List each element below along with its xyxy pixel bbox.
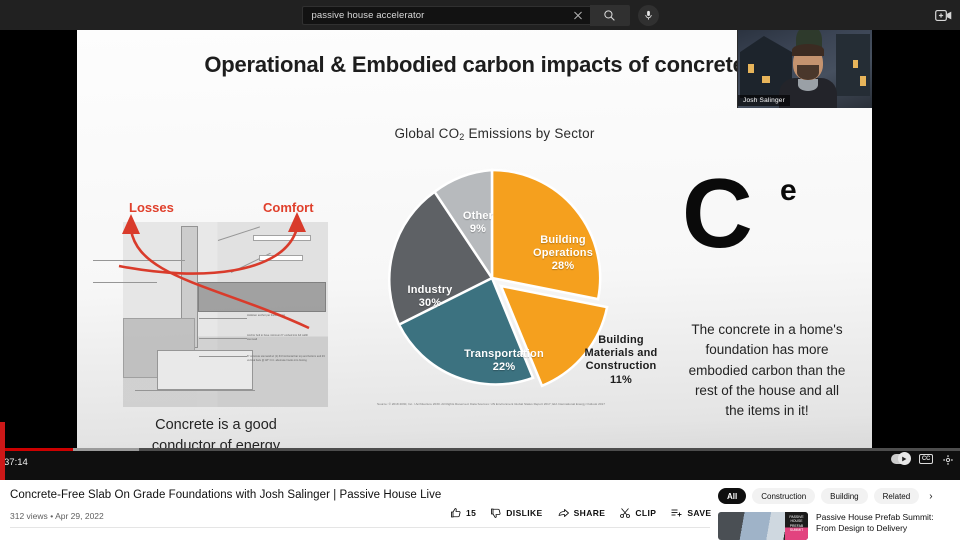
like-count: 15 [466, 508, 476, 518]
voice-search-button[interactable] [638, 5, 659, 26]
page-title: Concrete-Free Slab On Grade Foundations … [10, 489, 441, 501]
share-label: SHARE [574, 508, 606, 518]
filter-chips: All Construction Building Related › [718, 488, 933, 504]
dislike-button[interactable]: DISLIKE [490, 507, 542, 519]
chip-building[interactable]: Building [821, 488, 867, 504]
carbon-symbol-superscript: e [780, 174, 797, 208]
chart-source-note: Source: © 2018 2030, Inc. / Architecture… [366, 402, 616, 407]
player-controls[interactable]: 37:14 CC [0, 448, 960, 480]
right-caption-line4: rest of the house and all [695, 383, 839, 398]
play-icon [898, 452, 911, 465]
right-caption-line2: foundation has more [705, 342, 828, 357]
pie-label-transportation: Transportation22% [454, 348, 554, 374]
create-video-icon[interactable] [935, 8, 952, 22]
like-button[interactable]: 15 [450, 507, 476, 519]
gear-icon[interactable] [942, 453, 954, 465]
presentation-slide: Operational & Embodied carbon impacts of… [77, 30, 872, 470]
video-meta: 312 views • Apr 29, 2022 [10, 511, 104, 521]
search-button[interactable] [590, 5, 630, 26]
right-caption-line1: The concrete in a home's [691, 322, 842, 337]
save-label: SAVE [687, 508, 711, 518]
progress-played [0, 448, 73, 451]
divider [10, 527, 710, 528]
search-icon [603, 9, 616, 22]
progress-bar[interactable] [0, 448, 960, 451]
video-thumbnail[interactable]: PASSIVE HOUSE PREFAB SUMMIT [718, 512, 808, 540]
timestamp: 37:14 [4, 457, 28, 468]
pie-title-subscript: 2 [459, 132, 464, 142]
video-actions: 15 DISLIKE SHARE CLIP [450, 507, 740, 519]
save-button[interactable]: SAVE [670, 507, 711, 519]
pie-chart: Global CO2 Emissions by Sector [342, 126, 647, 436]
chevron-right-icon[interactable]: › [925, 491, 932, 502]
share-arrow-icon [557, 507, 570, 519]
search-box[interactable] [302, 6, 590, 25]
chip-construction[interactable]: Construction [752, 488, 815, 504]
clip-button[interactable]: CLIP [619, 507, 656, 519]
left-caption-line1: Concrete is a good [155, 417, 277, 433]
energy-flow-arrows [109, 208, 329, 368]
chip-related[interactable]: Related [874, 488, 920, 504]
player-right-controls: CC [891, 453, 954, 465]
pie-title-suffix: Emissions by Sector [465, 126, 595, 141]
thumbnail-badge: PASSIVE HOUSE PREFAB SUMMIT [785, 512, 808, 540]
scissors-icon [619, 507, 631, 519]
meta-separator: • [50, 511, 53, 521]
save-list-icon [670, 507, 683, 519]
clip-label: CLIP [635, 508, 656, 518]
right-caption-line5: the items in it! [725, 403, 808, 418]
video-player[interactable]: Operational & Embodied carbon impacts of… [0, 30, 960, 480]
dislike-label: DISLIKE [506, 508, 542, 518]
carbon-symbol: C [682, 170, 753, 256]
player-left-accent [0, 422, 5, 480]
youtube-watch-page: Operational & Embodied carbon impacts of… [0, 0, 960, 540]
pie-label-other: Other9% [450, 210, 506, 236]
close-icon[interactable] [572, 9, 584, 21]
recommendation-title-line2: From Design to Delivery [816, 523, 907, 533]
list-item[interactable]: PASSIVE HOUSE PREFAB SUMMIT Passive Hous… [718, 512, 960, 540]
share-button[interactable]: SHARE [557, 507, 606, 519]
presenter-name-label: Josh Salinger [738, 95, 790, 106]
recommendation-title-line1: Passive House Prefab Summit: [816, 512, 934, 522]
thumbs-down-icon [490, 507, 502, 519]
captions-button[interactable]: CC [919, 454, 933, 464]
pie-label-industry: Industry30% [394, 284, 466, 310]
recommendation-title[interactable]: Passive House Prefab Summit: From Design… [816, 512, 934, 540]
browser-top-bar [0, 0, 960, 30]
publish-date: Apr 29, 2022 [55, 511, 104, 521]
presenter-webcam: Josh Salinger [737, 30, 872, 108]
right-caption: The concrete in a home's foundation has … [647, 320, 887, 421]
recommendations-rail: All Construction Building Related › PASS… [718, 488, 960, 540]
microphone-icon [643, 10, 654, 21]
chip-all[interactable]: All [718, 488, 746, 504]
right-caption-line3: embodied carbon than the [689, 363, 846, 378]
search-input[interactable] [312, 10, 572, 21]
autoplay-toggle[interactable] [891, 454, 910, 464]
thumbs-up-icon [450, 507, 462, 519]
search-area [302, 5, 659, 26]
view-count: 312 views [10, 511, 48, 521]
pie-label-building-operations: BuildingOperations28% [520, 234, 606, 274]
pie-chart-title: Global CO2 Emissions by Sector [342, 126, 647, 141]
pie-title-prefix: Global CO [394, 126, 459, 141]
